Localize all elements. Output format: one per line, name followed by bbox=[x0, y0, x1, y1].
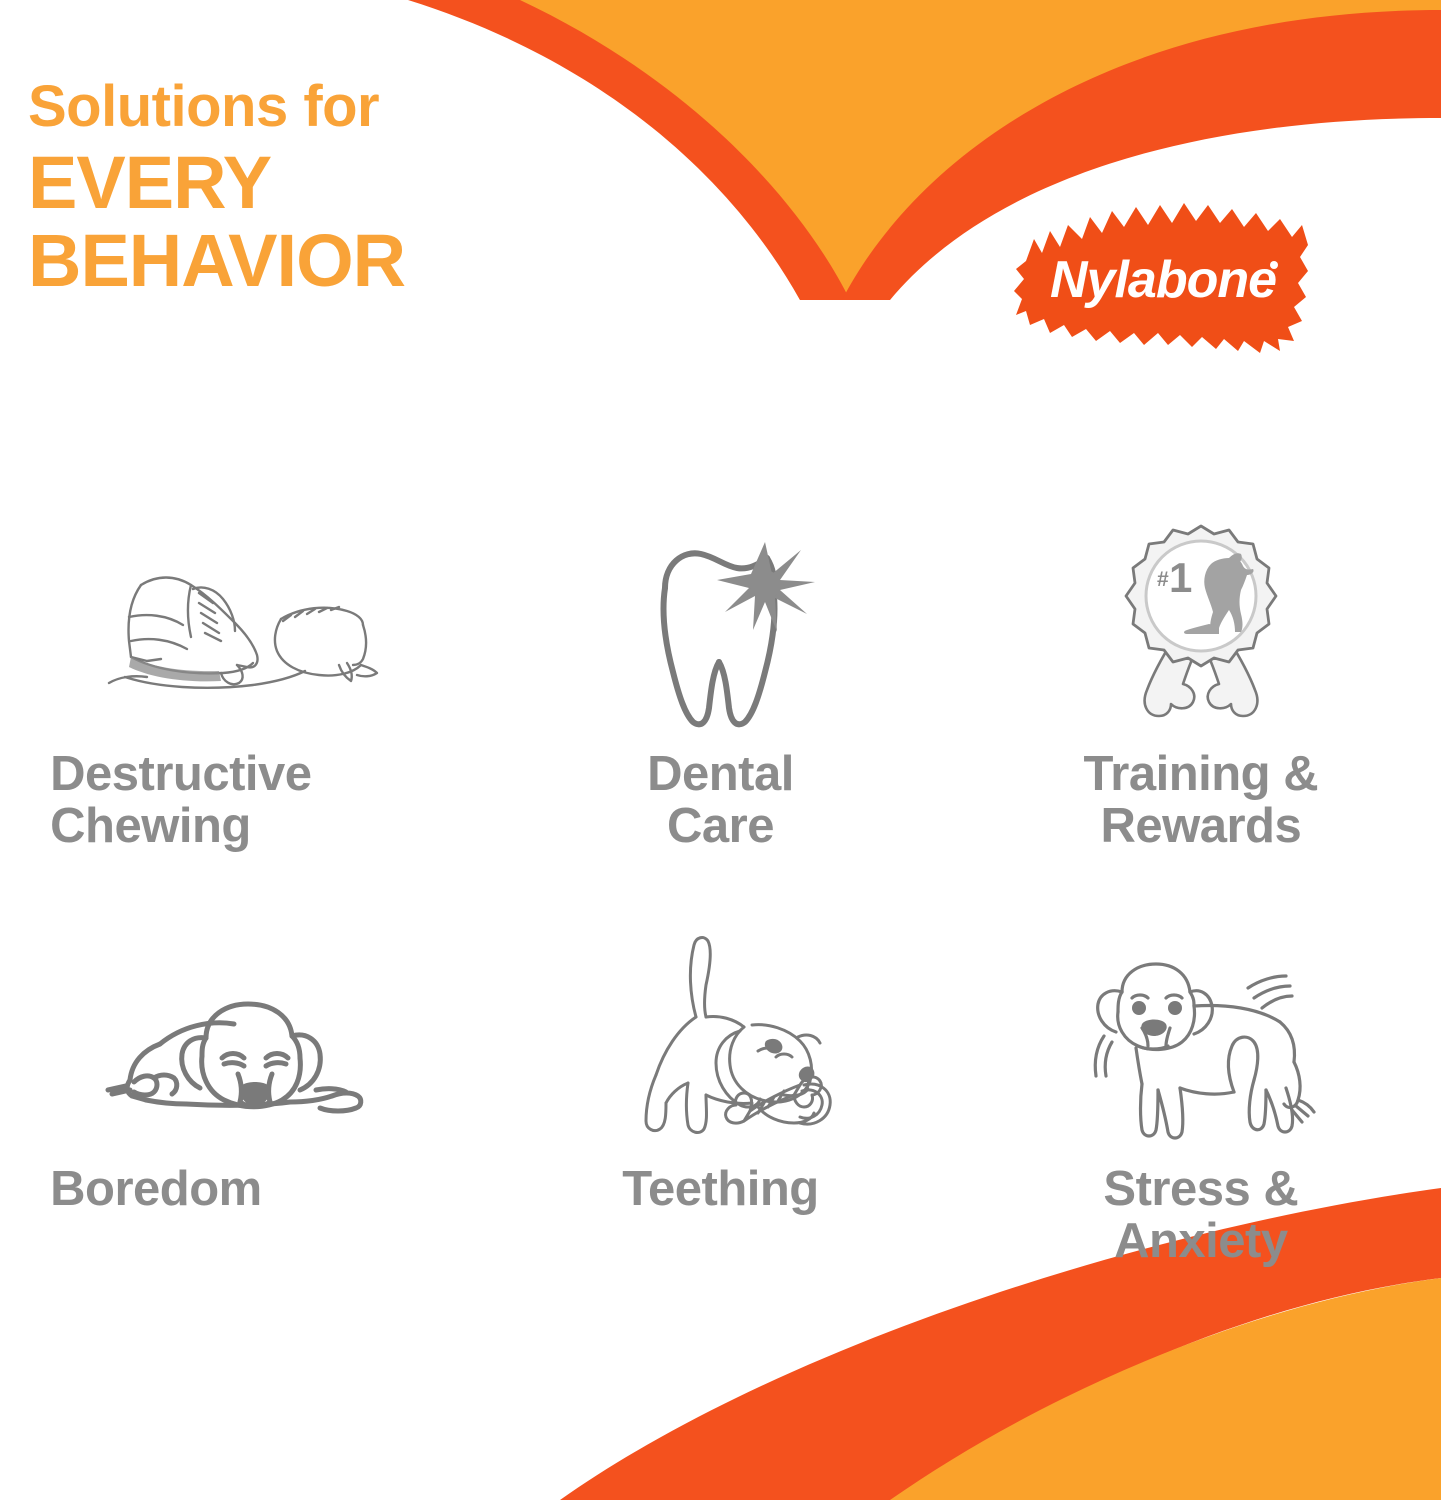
headline-line-1: Solutions for bbox=[28, 78, 588, 136]
puppy-chewing-toy-icon bbox=[480, 920, 960, 1150]
bored-puppy-icon bbox=[0, 920, 480, 1150]
behavior-label: Training & Rewards bbox=[1021, 749, 1381, 853]
behavior-grid: Destructive Chewing Dental Care bbox=[0, 520, 1441, 1320]
behavior-label: Boredom bbox=[50, 1164, 420, 1216]
chewed-shoe-icon bbox=[0, 520, 480, 735]
behavior-item-teething: Teething bbox=[480, 920, 960, 1320]
behavior-item-stress-anxiety: Stress & Anxiety bbox=[961, 920, 1441, 1320]
promo-banner: Solutions for EVERY BEHAVIOR Nylabone bbox=[0, 0, 1441, 1500]
award-badge-number: # bbox=[1157, 568, 1169, 591]
behavior-item-destructive-chewing: Destructive Chewing bbox=[0, 520, 480, 920]
nylabone-logo: Nylabone bbox=[1012, 195, 1312, 355]
svg-text:1: 1 bbox=[1169, 554, 1192, 601]
svg-text:Nylabone: Nylabone bbox=[1050, 251, 1276, 309]
behavior-label: Dental Care bbox=[555, 749, 885, 853]
headline-line-2: EVERY bbox=[28, 144, 588, 222]
behavior-item-boredom: Boredom bbox=[0, 920, 480, 1320]
headline-line-3: BEHAVIOR bbox=[28, 222, 588, 300]
headline-block: Solutions for EVERY BEHAVIOR bbox=[28, 78, 588, 301]
behavior-item-dental-care: Dental Care bbox=[480, 520, 960, 920]
anxious-dog-icon bbox=[961, 920, 1441, 1150]
behavior-label: Stress & Anxiety bbox=[1021, 1164, 1381, 1268]
behavior-label: Teething bbox=[555, 1164, 885, 1216]
behavior-label: Destructive Chewing bbox=[50, 749, 420, 853]
award-ribbon-icon: # 1 bbox=[961, 520, 1441, 735]
behavior-item-training-rewards: # 1 Training & Rewards bbox=[961, 520, 1441, 920]
sparkling-tooth-icon bbox=[480, 520, 960, 735]
